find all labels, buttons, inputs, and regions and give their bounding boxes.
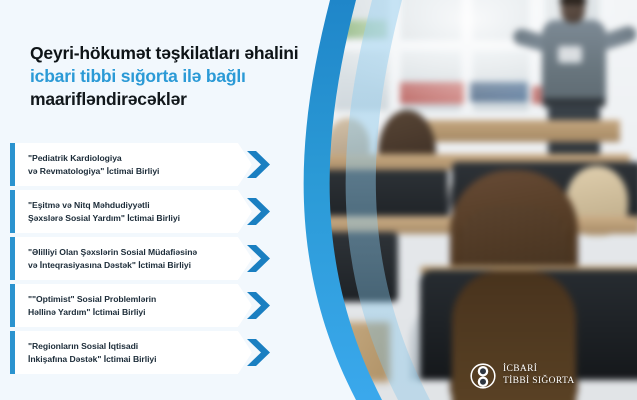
list-item-card[interactable]: "Əlilliyi Olan Şəxslərin Sosial Müdafiəs… [10,237,252,280]
logo-text: İCBARİ TİBBİ SIĞORTA [503,364,575,387]
list-item-accent-bar [10,190,15,233]
headline-line-2: icbari tibbi sığorta ilə bağlı [30,65,350,88]
chevron-right-icon[interactable] [244,150,274,179]
chevron-right-icon[interactable] [244,244,274,273]
list-item-accent-bar [10,237,15,280]
list-item-label: "Pediatrik Kardiologiya və Revmatologiya… [28,143,240,186]
organization-list: "Pediatrik Kardiologiya və Revmatologiya… [10,143,300,378]
chevron-right-icon[interactable] [244,338,274,367]
icbari-tibbi-sigorta-logo-icon [470,363,496,389]
list-item[interactable]: "Eşitmə və Nitq Məhdudiyyətli Şəxslərə S… [10,190,300,233]
list-item-label: "Eşitmə və Nitq Məhdudiyyətli Şəxslərə S… [28,190,240,233]
list-item-card[interactable]: "Pediatrik Kardiologiya və Revmatologiya… [10,143,252,186]
headline-line-1: Qeyri-hökumət təşkilatları əhalini [30,42,350,65]
banner: Qeyri-hökumət təşkilatları əhalini icbar… [0,0,637,400]
chevron-right-icon[interactable] [244,197,274,226]
list-item-accent-bar [10,143,15,186]
headline-line-3: maarifləndirəcəklər [30,88,350,111]
list-item-card[interactable]: "Eşitmə və Nitq Məhdudiyyətli Şəxslərə S… [10,190,252,233]
list-item[interactable]: "Pediatrik Kardiologiya və Revmatologiya… [10,143,300,186]
list-item[interactable]: "Əlilliyi Olan Şəxslərin Sosial Müdafiəs… [10,237,300,280]
list-item-accent-bar [10,331,15,374]
list-item[interactable]: "Regionların Sosial İqtisadi İnkişafına … [10,331,300,374]
list-item-card[interactable]: ""Optimist" Sosial Problemlərin Həllinə … [10,284,252,327]
list-item-accent-bar [10,284,15,327]
logo: İCBARİ TİBBİ SIĞORTA [470,363,575,389]
list-item-label: ""Optimist" Sosial Problemlərin Həllinə … [28,284,240,327]
list-item-label: "Regionların Sosial İqtisadi İnkişafına … [28,331,240,374]
list-item-card[interactable]: "Regionların Sosial İqtisadi İnkişafına … [10,331,252,374]
page-title: Qeyri-hökumət təşkilatları əhalini icbar… [30,42,350,111]
chevron-right-icon[interactable] [244,291,274,320]
list-item-label: "Əlilliyi Olan Şəxslərin Sosial Müdafiəs… [28,237,240,280]
list-item[interactable]: ""Optimist" Sosial Problemlərin Həllinə … [10,284,300,327]
